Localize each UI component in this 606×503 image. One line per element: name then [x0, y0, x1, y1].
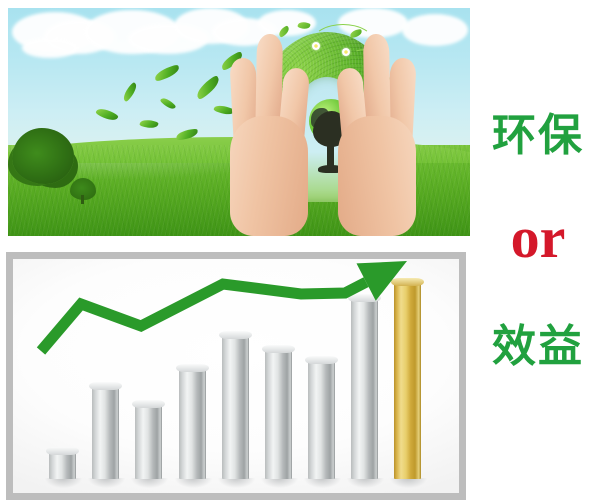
tree-trunk: [327, 137, 334, 167]
label-or: or: [470, 209, 606, 267]
cloud: [402, 14, 468, 46]
environmental-protection-photo: [8, 8, 470, 236]
background-tree-large: [12, 128, 74, 184]
hand-left: [230, 56, 308, 236]
palm: [338, 116, 416, 236]
label-environmental-protection: 环保: [470, 114, 606, 158]
growth-arrow-icon: [13, 259, 459, 493]
cloud: [22, 38, 78, 58]
label-efficiency: 效益: [470, 325, 606, 369]
background-tree-small: [70, 178, 96, 200]
page-canvas: 环保 or 效益: [0, 0, 606, 503]
side-text-column: 环保 or 效益: [470, 0, 606, 503]
flower-icon: [312, 42, 320, 50]
chart-plot-area: [13, 259, 459, 493]
hand-right: [338, 56, 416, 236]
flower-icon: [342, 48, 350, 56]
palm: [230, 116, 308, 236]
growth-bar-chart-photo: [6, 252, 466, 500]
